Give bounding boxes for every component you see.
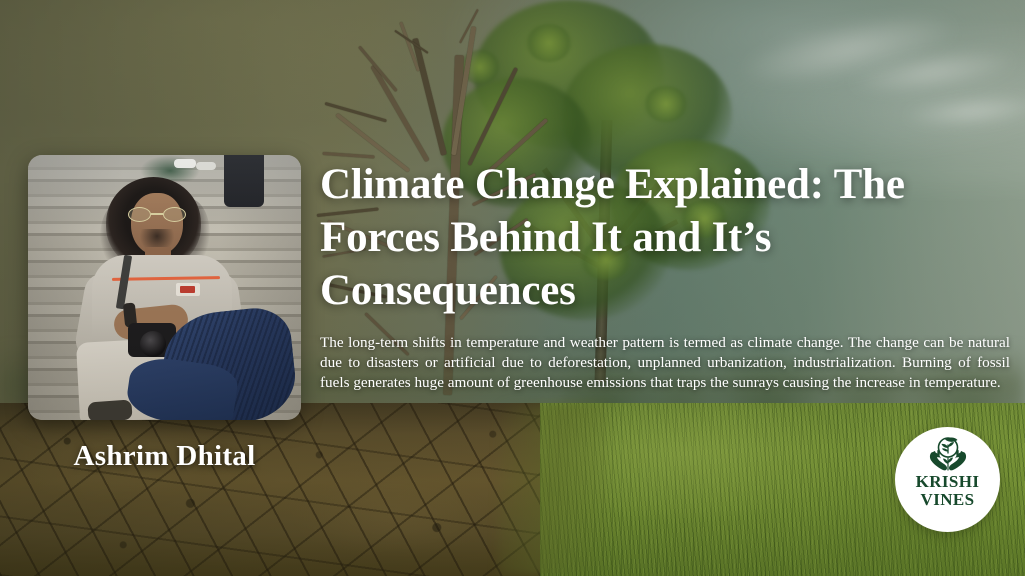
hands-holding-sprout-icon: [925, 436, 971, 472]
brand-name: KRISHI VINES: [916, 473, 980, 508]
brand-name-line1: KRISHI: [916, 473, 980, 491]
brand-logo: KRISHI VINES: [895, 427, 1000, 532]
article-summary: The long-term shifts in temperature and …: [320, 333, 1010, 393]
page-title: Climate Change Explained: The Forces Beh…: [320, 158, 1020, 317]
photo-color-tone: [28, 155, 301, 420]
author-name: Ashrim Dhital: [28, 440, 301, 473]
poster-content: Ashrim Dhital Climate Change Explained: …: [0, 0, 1025, 576]
article-cover-poster: Ashrim Dhital Climate Change Explained: …: [0, 0, 1025, 576]
brand-name-line2: VINES: [916, 491, 980, 509]
author-photo: [28, 155, 301, 420]
